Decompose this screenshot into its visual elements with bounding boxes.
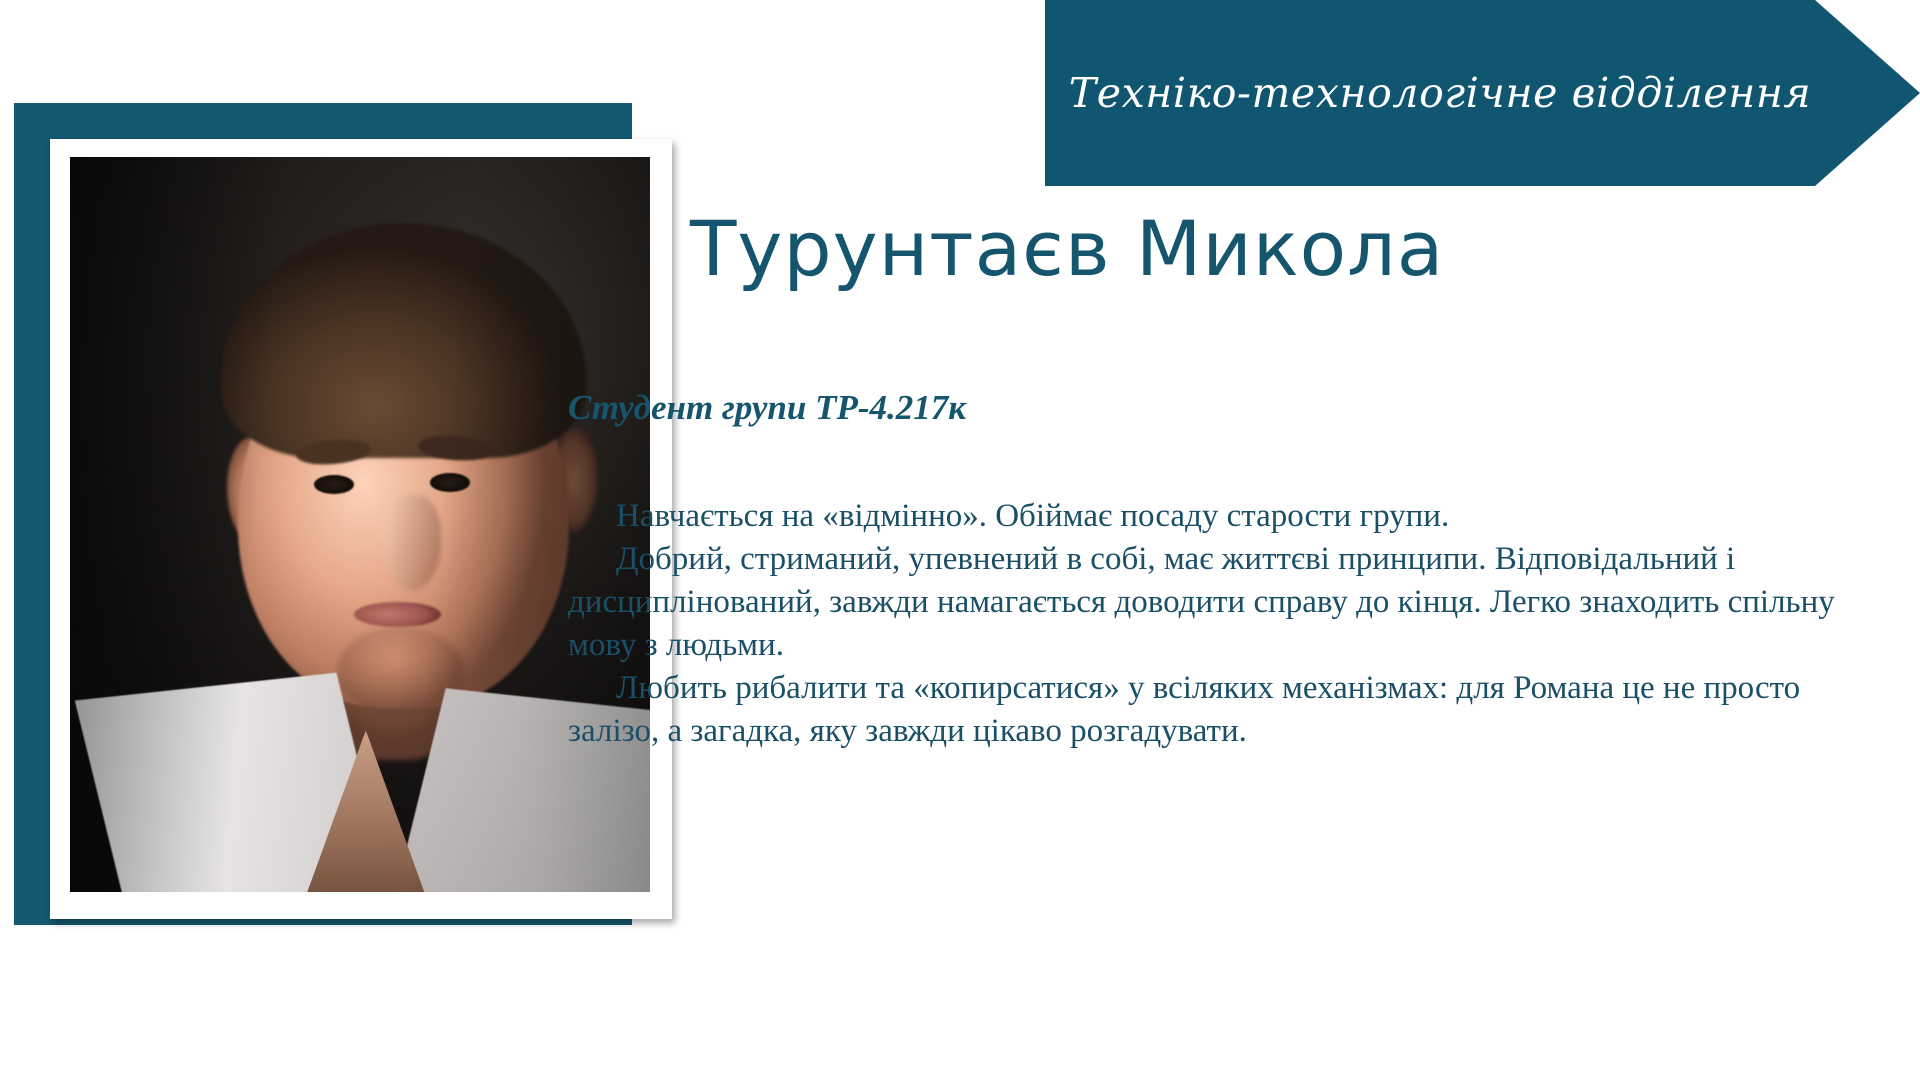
description-paragraph: Любить рибалити та «копирсатися» у всіля… — [568, 667, 1888, 753]
student-group-subtitle: Студент групи ТР-4.217к — [568, 386, 1868, 430]
slide-canvas: Техніко-технологічне відділення Турунтає… — [0, 0, 1920, 1080]
banner-arrow-shape — [1045, 0, 1920, 186]
page-title: Турунтаєв Микола — [690, 205, 1870, 293]
department-banner — [1045, 0, 1920, 186]
student-photo — [70, 157, 650, 892]
description-body: Навчається на «відмінно». Обіймає посаду… — [568, 495, 1888, 753]
photo-vignette — [70, 157, 650, 892]
description-paragraph: Добрий, стриманий, упевнений в собі, має… — [568, 538, 1888, 667]
description-paragraph: Навчається на «відмінно». Обіймає посаду… — [568, 495, 1888, 538]
